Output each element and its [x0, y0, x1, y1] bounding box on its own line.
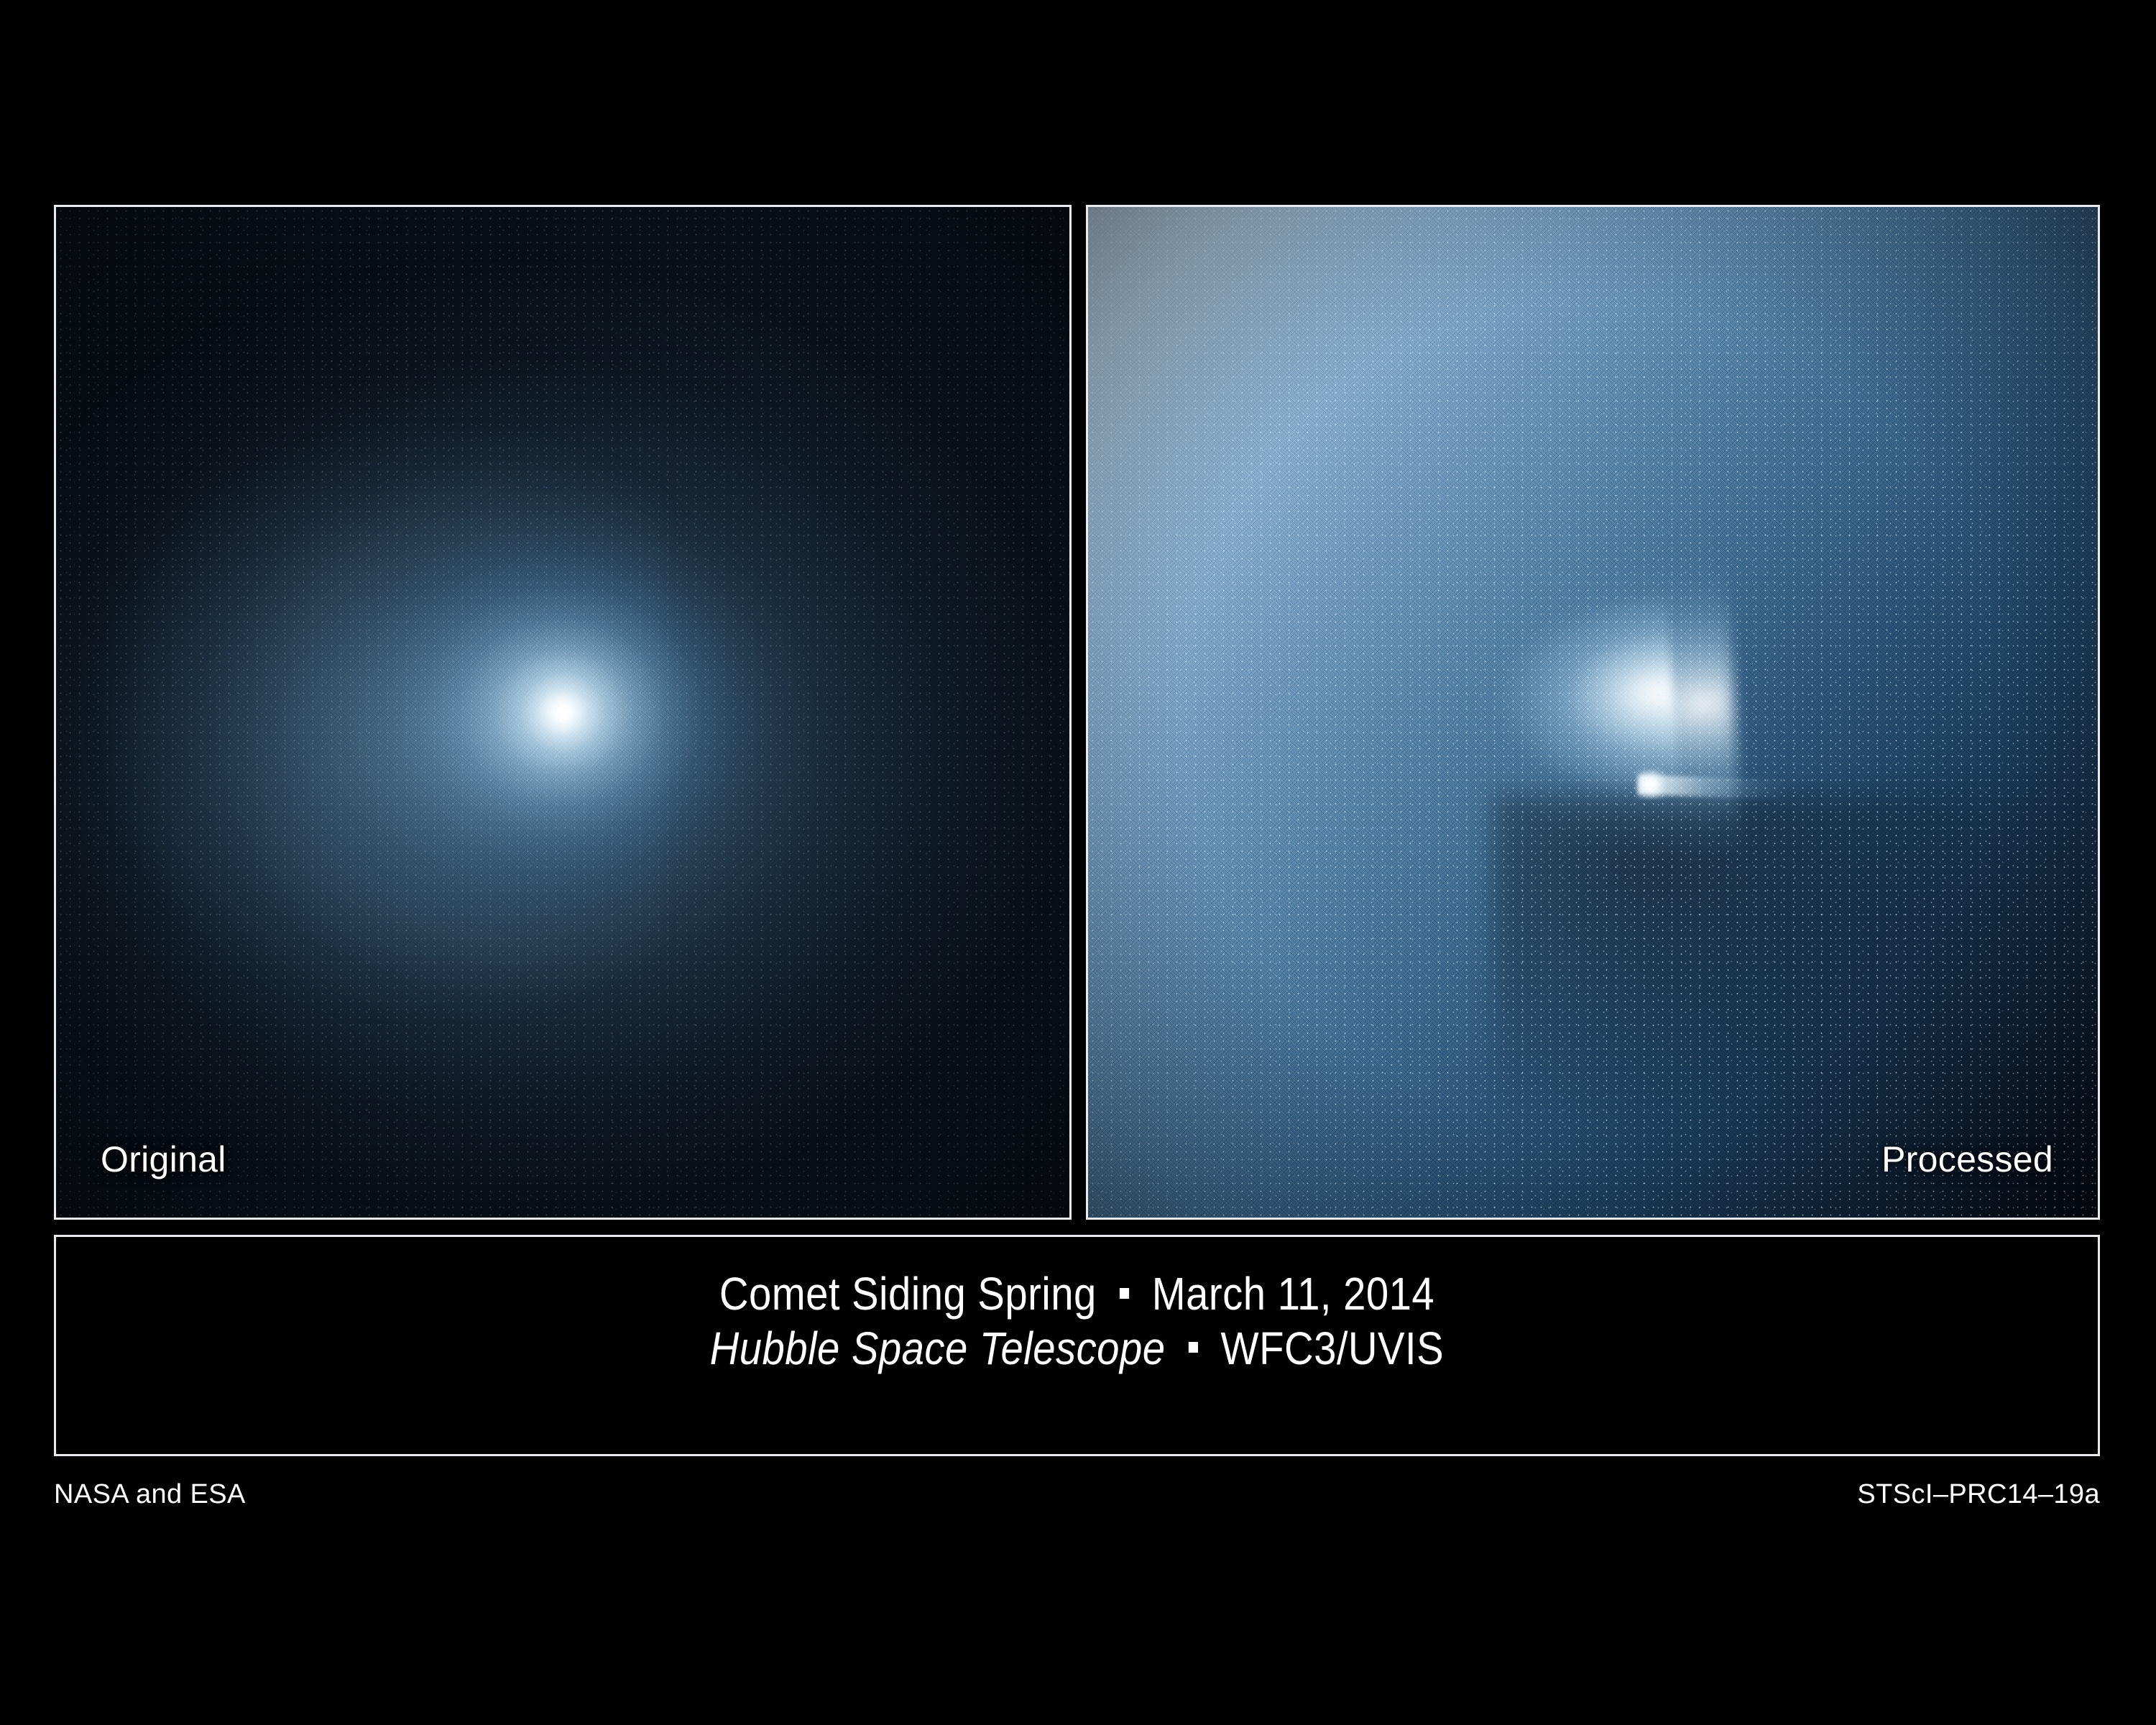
caption-instrument-name: WFC3/UVIS: [1221, 1322, 1445, 1374]
image-panel-processed: Processed: [1086, 205, 2100, 1220]
bullet-square-icon: [1189, 1342, 1198, 1353]
caption-object-name: Comet Siding Spring: [719, 1268, 1097, 1320]
caption-line-2: Hubble Space Telescope WFC3/UVIS: [710, 1322, 1444, 1376]
panel-label-original: Original: [101, 1138, 226, 1180]
caption-line-1: Comet Siding Spring March 11, 2014: [719, 1267, 1434, 1322]
figure-canvas: Original Processed Comet Siding Spring M…: [0, 0, 2156, 1725]
release-id: STScI–PRC14–19a: [1857, 1479, 2100, 1510]
caption-telescope-name: Hubble Space Telescope: [710, 1322, 1166, 1374]
panel-label-processed: Processed: [1881, 1138, 2053, 1180]
sky-background-original: [56, 207, 1069, 1218]
comet-nucleus-processed: [1636, 769, 1666, 799]
sky-background-processed: [1088, 207, 2098, 1218]
image-panel-original: Original: [54, 205, 1072, 1220]
bullet-square-icon: [1120, 1288, 1129, 1299]
caption-observation-date: March 11, 2014: [1152, 1268, 1434, 1320]
credit-agencies: NASA and ESA: [54, 1479, 246, 1510]
comet-nucleus-original: [509, 658, 617, 766]
caption-box: Comet Siding Spring March 11, 2014 Hubbl…: [54, 1235, 2100, 1456]
